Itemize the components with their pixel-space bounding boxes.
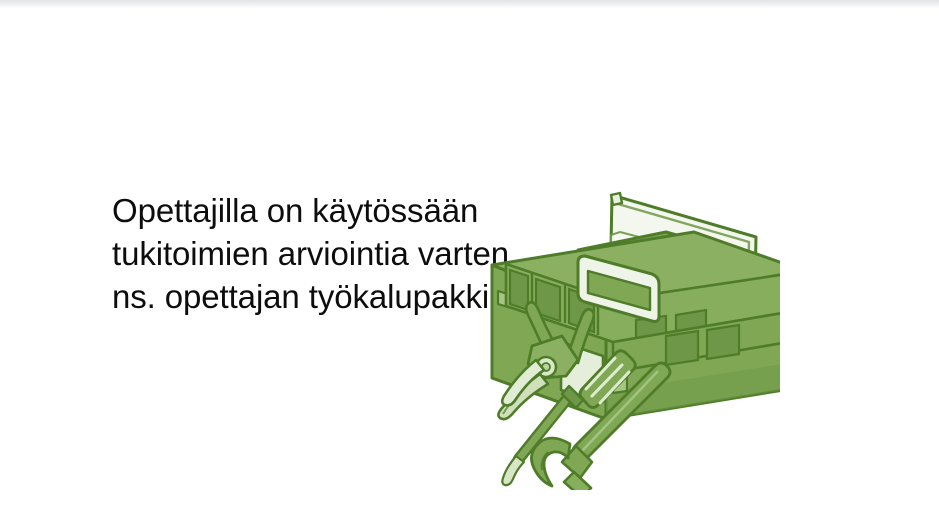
slide-canvas: Opettajilla on käytössään tukitoimien ar…: [0, 0, 939, 520]
toolbox-illustration: [470, 160, 780, 490]
toolbox-illustration-svg: [470, 160, 780, 490]
top-edge-shading: [0, 0, 939, 9]
